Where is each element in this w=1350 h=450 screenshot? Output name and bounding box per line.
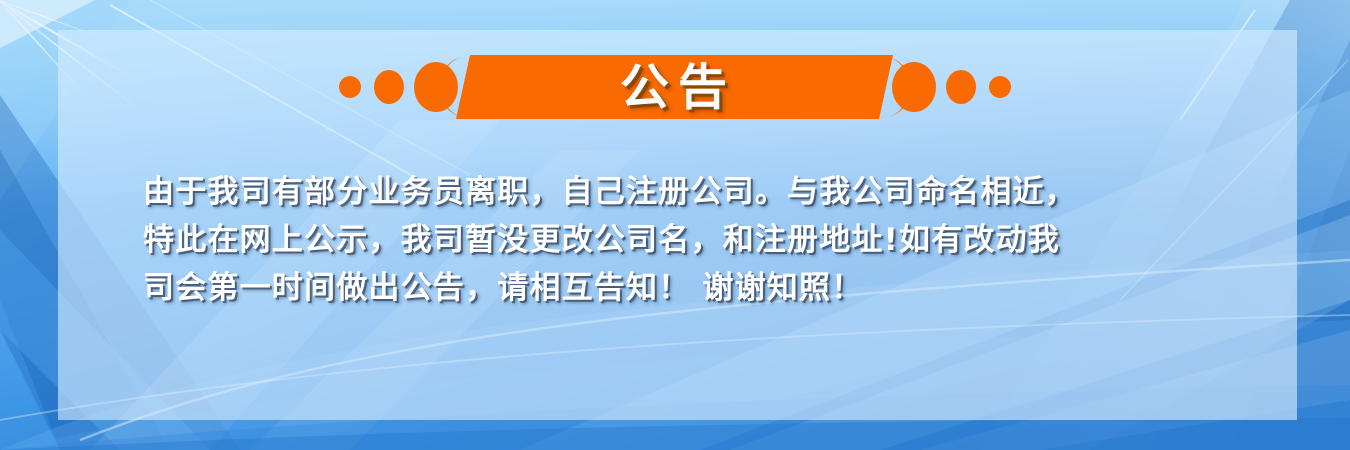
body-line-3: 司会第一时间做出公告，请相互告知！ 谢谢知照！ [143, 264, 1228, 312]
announcement-banner: 公告 由于我司有部分业务员离职，自己注册公司。与我公司命名相近， 特此在网上公示… [0, 0, 1350, 450]
announcement-title: 公告 [0, 48, 1350, 126]
announcement-body: 由于我司有部分业务员离职，自己注册公司。与我公司命名相近， 特此在网上公示，我司… [143, 168, 1228, 312]
body-line-2: 特此在网上公示，我司暂没更改公司名，和注册地址!如有改动我 [143, 216, 1228, 264]
body-line-1: 由于我司有部分业务员离职，自己注册公司。与我公司命名相近， [143, 168, 1228, 216]
